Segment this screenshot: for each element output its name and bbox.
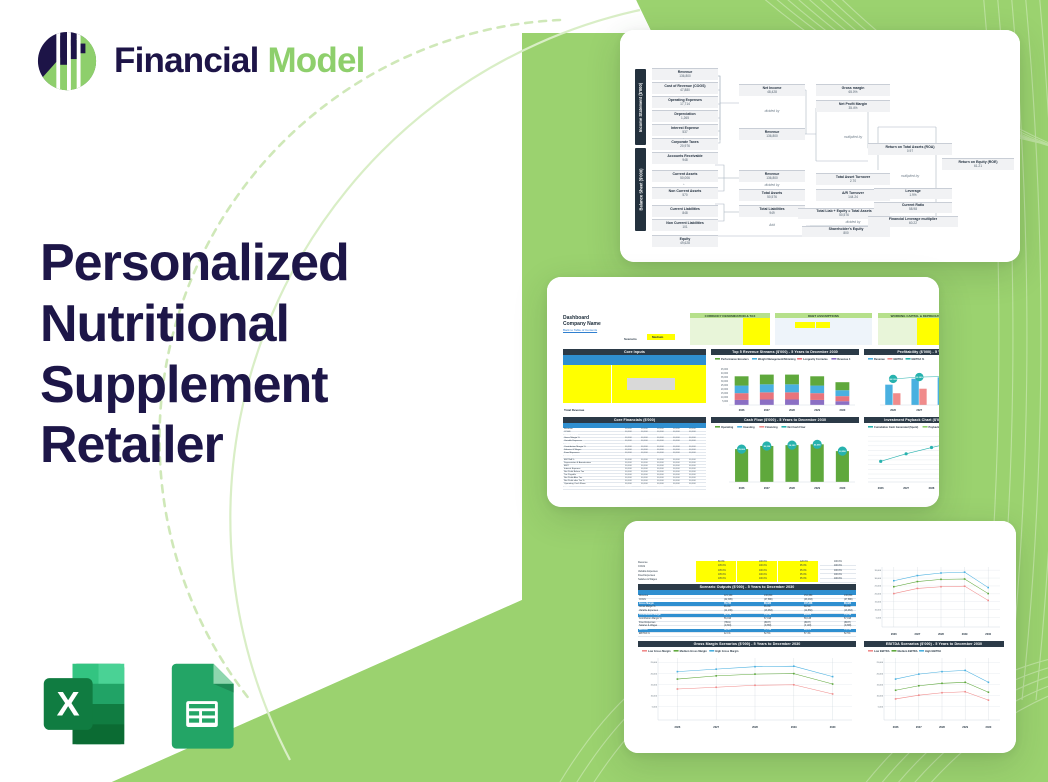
svg-text:5,000: 5,000 — [878, 707, 884, 709]
brand-name-part1: Financial — [114, 41, 259, 80]
scenario-value: Medium — [652, 335, 663, 339]
chart-revenue-streams-svg: Performance BoostersWeight Management/Sl… — [711, 356, 859, 413]
svg-text:2026: 2026 — [739, 408, 745, 412]
core-financials-cell: 00,000 — [657, 477, 664, 479]
dupont-box-right-1: Leverage 1.9% — [874, 188, 952, 199]
dupont-box-bs-5: Equity 49,628 — [652, 235, 718, 247]
core-financials-rowline — [563, 467, 706, 468]
dupont-box-final-roe: Return on Equity (ROE) 61.21 — [942, 158, 1014, 170]
svg-text:2027: 2027 — [916, 408, 922, 412]
svg-text:2026: 2026 — [891, 632, 897, 636]
svg-text:Performance Boosters: Performance Boosters — [721, 357, 749, 361]
svg-text:2030: 2030 — [986, 725, 992, 729]
core-financials-cell: 00,000 — [625, 443, 632, 445]
core-financials-cell: 00,000 — [689, 459, 696, 461]
svg-text:40,080: 40,080 — [814, 443, 821, 446]
scenario-outputs-cell: (11,860) — [804, 610, 812, 612]
svg-text:Financing: Financing — [765, 425, 778, 429]
core-financials-cell: 00,000 — [689, 452, 696, 454]
svg-text:2030: 2030 — [985, 632, 991, 636]
dupont-minus-0: - — [683, 80, 684, 84]
dupont-box-right-0: Return on Total Assets (ROA) 0.97 — [868, 143, 952, 155]
investment-payback-chart: Cumulative Cash Generated (Spent)Payback… — [864, 424, 939, 492]
svg-text:2027: 2027 — [764, 408, 770, 412]
scenario-outputs-cell: 57,198 — [844, 618, 851, 620]
core-financials-cell: 00,000 — [625, 437, 632, 439]
dashboard-subtitle: Company Name — [563, 321, 601, 327]
svg-text:2028: 2028 — [939, 725, 945, 729]
core-financials-cell: 00,000 — [625, 440, 632, 442]
svg-text:2030: 2030 — [840, 408, 846, 412]
svg-text:EBITDA: EBITDA — [893, 357, 903, 361]
core-financials-cell: 00,000 — [673, 468, 680, 470]
scenario-outputs-row-label: COGS — [639, 599, 646, 601]
panel-debt-cell-amount[interactable] — [795, 322, 815, 328]
core-financials-cell: 00,000 — [689, 471, 696, 473]
core-financials-cell: 00,000 — [673, 449, 680, 451]
core-financials-cell: 00,000 — [689, 465, 696, 467]
core-financials-cell: 00,000 — [673, 452, 680, 454]
core-financials-cell: 00,000 — [673, 486, 680, 488]
core-financials-cell: 00,000 — [641, 437, 648, 439]
scenario-outputs-row-label: EBITDA % — [639, 633, 650, 635]
core-financials-cell: 00,000 — [689, 474, 696, 476]
core-financials-cell: 00,000 — [657, 468, 664, 470]
dashboard-back-link[interactable]: Back to Table of Contents — [563, 328, 597, 332]
dupont-box-ratio-0: Gross margin 65.0% — [816, 84, 890, 96]
scenario-assumption-value: 95.0% — [800, 565, 807, 567]
scenario-outputs-rowline — [638, 598, 856, 599]
svg-text:X: X — [57, 686, 80, 724]
svg-text:30,000: 30,000 — [721, 381, 729, 383]
scenario-outputs-row-label: Revenue — [639, 595, 648, 597]
scenario-assumption-cell[interactable] — [778, 578, 818, 582]
scenario-assumption-value: 100.0% — [759, 565, 767, 567]
core-financials-cell: 00,000 — [641, 455, 648, 457]
dupont-box-bs-3: Current Liabilities 848 — [652, 205, 718, 217]
svg-text:25,000: 25,000 — [875, 586, 882, 588]
core-financials-cell: 00,000 — [657, 474, 664, 476]
svg-text:2029: 2029 — [814, 408, 820, 412]
core-financials-cell: 00,000 — [641, 449, 648, 451]
svg-text:Payback year: Payback year — [929, 425, 939, 429]
svg-text:5,000: 5,000 — [722, 401, 728, 403]
scenario-assumption-label: COGS — [638, 565, 645, 568]
scenario-outputs-cell: 90,870 — [804, 614, 811, 616]
scenario-outputs-cell: (3,868) — [764, 625, 771, 627]
core-financials-cell: 00,000 — [673, 480, 680, 482]
core-financials-cell: 00,000 — [625, 431, 632, 433]
scenario-active-rowline — [820, 582, 856, 583]
core-inputs-names-col[interactable] — [563, 365, 611, 403]
svg-text:58.13%: 58.13% — [889, 379, 896, 381]
dupont-minus-1: - — [683, 94, 684, 98]
scenario-outputs-cell: (3,898) — [844, 625, 851, 627]
panel-profitability-title: Profitability ($'000) - 5 Years to Decem… — [864, 349, 939, 355]
svg-text:Net Cash Flow: Net Cash Flow — [787, 425, 806, 429]
core-financials-cell: 00,000 — [657, 455, 664, 457]
svg-text:2027: 2027 — [903, 486, 909, 490]
core-financials-rowline — [563, 449, 706, 450]
scenario-active-value: 100.0% — [834, 578, 842, 580]
scenario-outputs-cell: 75,708 — [844, 629, 851, 631]
core-financials-cell: 00,000 — [625, 452, 632, 454]
scenario-outputs-cell: (47,880) — [844, 599, 853, 601]
core-financials-rowline — [563, 452, 706, 453]
panel-cash-flow-title: Cash Flow ($'000) - 5 Years to December … — [711, 417, 859, 423]
dupont-box-bs-4: Non Current Liabilities 101 — [652, 219, 718, 231]
svg-text:5,000: 5,000 — [652, 707, 658, 709]
core-financials-cell: 00,000 — [689, 440, 696, 442]
chart-ebitda-svg: Low EBITDAMedium EBITDAHigh EBITDA25,000… — [864, 648, 1004, 730]
scenario-outputs-cell: 88,920 — [844, 603, 851, 605]
scenario-outputs-cell: 57.4% — [804, 633, 811, 635]
core-financials-cell: 00,000 — [641, 474, 648, 476]
core-financials-cell: 00,000 — [641, 486, 648, 488]
financial-dashboard-card[interactable]: Dashboard Company Name Back to Table of … — [547, 277, 939, 507]
scenario-outputs-rowline — [638, 625, 856, 626]
core-financials-cell: 00,000 — [625, 468, 632, 470]
dupont-box-is-2: Operating Expenses 17,714 — [652, 96, 718, 108]
core-financials-cell: 00,000 — [625, 465, 632, 467]
core-financials-cell: 00,000 — [689, 434, 696, 436]
svg-text:2027: 2027 — [764, 486, 770, 490]
svg-text:2029: 2029 — [962, 725, 968, 729]
scenario-outputs-cell: 69.5% — [804, 606, 811, 608]
svg-text:35,000: 35,000 — [721, 377, 729, 379]
core-financials-cell: 00,000 — [625, 455, 632, 457]
scenario-outputs-row-label: Salaries & Wages — [639, 625, 657, 627]
scenario-active-value: 100.0% — [834, 570, 842, 572]
core-financials-rowline — [563, 440, 706, 441]
svg-text:2030: 2030 — [840, 486, 846, 490]
core-financials-cell: 00,000 — [689, 428, 696, 430]
core-financials-cell: 00,000 — [689, 455, 696, 457]
dupont-box-right-3: Financial Leverage multiplier 60.22 — [868, 216, 958, 227]
dupont-operator-0: divided by — [739, 109, 805, 113]
svg-text:2026: 2026 — [890, 408, 896, 412]
scenario-outputs-cell: 58,138 — [804, 618, 811, 620]
scenario-outputs-cell: 121,130 — [724, 595, 732, 597]
svg-text:62.29%: 62.29% — [916, 377, 923, 379]
svg-text:25,000: 25,000 — [877, 662, 884, 664]
core-financials-cell: 00,000 — [689, 477, 696, 479]
core-financials-cell: 00,000 — [657, 437, 664, 439]
svg-text:20,000: 20,000 — [651, 673, 658, 675]
core-financials-cell: 00,000 — [625, 428, 632, 430]
svg-text:2028: 2028 — [789, 486, 795, 490]
scenario-outputs-row-label: Contribution Margin % — [639, 618, 662, 620]
scenario-active-value: 100.0% — [834, 561, 842, 563]
core-financials-rowline — [563, 458, 706, 459]
core-financials-cell: 00,000 — [641, 440, 648, 442]
chart-gross-margin-svg: Low Gross MarginMedium Gross MarginHigh … — [638, 648, 856, 730]
scenario-outputs-cell: (47,880) — [764, 599, 773, 601]
svg-text:Low EBITDA: Low EBITDA — [874, 649, 890, 653]
core-financials-rowline — [563, 434, 706, 435]
scenario-outputs-cell: 65.0% — [844, 606, 851, 608]
core-financials-rowline — [563, 470, 706, 471]
core-financials-cell: 00,000 — [657, 431, 664, 433]
core-financials-cell: 00,000 — [641, 459, 648, 461]
page-title: Personalized Nutritional Supplement Reta… — [40, 233, 470, 476]
core-financials-cell: 00,000 — [625, 483, 632, 485]
svg-text:Longevity Formulas: Longevity Formulas — [803, 357, 828, 361]
poster-stage: Financial Model Personalized Nutritional… — [0, 0, 1048, 782]
core-financials-rowline — [563, 431, 706, 432]
svg-text:15,000: 15,000 — [721, 393, 729, 395]
scenario-active-column: 100.0%100.0%100.0%100.0%100.0% — [820, 561, 856, 583]
core-financials-cell: 00,000 — [689, 446, 696, 448]
core-financials-rowline — [563, 464, 706, 465]
core-financials-cell: 00,000 — [657, 452, 664, 454]
core-financials-cell: 00,000 — [641, 468, 648, 470]
core-financials-cell: 00,000 — [673, 455, 680, 457]
svg-text:30,000: 30,000 — [875, 578, 882, 580]
svg-text:35,000: 35,000 — [875, 570, 882, 572]
scenario-outputs-cell: 52,007 — [724, 629, 731, 631]
panel-gross-margin-title: Gross Margin Scenarios ($'000) - 5 Years… — [638, 641, 856, 647]
core-financials-cell: 00,000 — [657, 449, 664, 451]
scenario-outputs-cell: 56,196 — [724, 618, 731, 620]
svg-text:5,000: 5,000 — [876, 617, 882, 619]
svg-text:2028: 2028 — [929, 486, 935, 490]
chart-scenario-revenue-svg: 35,00030,00025,00020,00015,00010,0005,00… — [864, 563, 1004, 637]
panel-currency-values[interactable] — [743, 318, 770, 345]
core-financials-cell: 00,000 — [641, 452, 648, 454]
dupont-box-is-4: Interest Expense 537 — [652, 124, 718, 136]
scenario-assumption-label: Fixed Expenses — [638, 574, 655, 577]
scenario-assumption-value: 95.0% — [800, 570, 807, 572]
dupont-operator-5: multiplied by — [868, 174, 952, 178]
core-financials-cell: 00,000 — [673, 446, 680, 448]
ebitda-scenarios-chart: Low EBITDAMedium EBITDAHigh EBITDA25,000… — [864, 648, 1004, 730]
core-financials-rowline — [563, 489, 706, 490]
dupont-box-mid-4: Total Liabilities 949 — [739, 205, 805, 217]
brand-name: Financial Model — [114, 41, 365, 81]
dupont-box-is-1: Cost of Revenue (COGS) 47,880 — [652, 82, 718, 94]
svg-text:10,000: 10,000 — [875, 609, 882, 611]
core-financials-cell: 00,000 — [689, 437, 696, 439]
dupont-box-bs-1: Current Assets 50,006 — [652, 170, 718, 182]
core-financials-cell: 00,000 — [673, 465, 680, 467]
scenario-assumptions-table[interactable]: Revenue80.0%100.0%120.0%COGS105.0%100.0%… — [638, 561, 818, 583]
svg-text:20,000: 20,000 — [875, 594, 882, 596]
svg-text:40,000: 40,000 — [721, 373, 729, 375]
svg-text:Cumulative Cash Generated (Spe: Cumulative Cash Generated (Spent) — [874, 425, 918, 429]
scenario-assumption-value: 105.0% — [718, 565, 726, 567]
scenario-outputs-rowline — [638, 617, 856, 618]
svg-text:2029: 2029 — [962, 632, 968, 636]
scenario-assumption-value: 100.0% — [759, 578, 767, 580]
core-financials-cell: 00,000 — [657, 462, 664, 464]
page-title-line-4: Retailer — [40, 415, 470, 476]
svg-text:45,000: 45,000 — [721, 369, 729, 371]
core-financials-cell: 00,000 — [673, 483, 680, 485]
core-financials-rowline — [563, 486, 706, 487]
scenario-revenue-chart: 35,00030,00025,00020,00015,00010,0005,00… — [864, 563, 1004, 637]
svg-text:Revenue 4: Revenue 4 — [837, 357, 851, 361]
core-financials-cell: 00,000 — [657, 440, 664, 442]
scenario-outputs-cell: (42,395) — [724, 599, 733, 601]
panel-debt-cell-launch[interactable] — [816, 322, 830, 328]
svg-text:2028: 2028 — [938, 632, 944, 636]
scenario-assumption-value: 105.0% — [718, 574, 726, 576]
core-financials-cell: 00,000 — [641, 477, 648, 479]
core-financials-cell: 00,000 — [641, 462, 648, 464]
svg-text:2026: 2026 — [878, 486, 884, 490]
scenario-outputs-cell: 107,348 — [804, 603, 812, 605]
svg-text:2029: 2029 — [814, 486, 820, 490]
core-financials-cell: 00,000 — [625, 477, 632, 479]
scenario-assumption-value: 105.0% — [718, 570, 726, 572]
svg-text:2027: 2027 — [713, 725, 719, 729]
scenario-outputs-cell: 136,800 — [844, 595, 852, 597]
core-financials-cell: 00,000 — [673, 434, 680, 436]
core-financials-cell: 00,000 — [673, 471, 680, 473]
scenario-outputs-rowline — [638, 606, 856, 607]
core-financials-cell: 00,000 — [673, 443, 680, 445]
core-financials-cell: 00,000 — [689, 462, 696, 464]
scenario-outputs-cell: 42.1% — [724, 633, 731, 635]
scenario-analysis-card[interactable]: Revenue80.0%100.0%120.0%COGS105.0%100.0%… — [624, 521, 1016, 753]
core-financials-cell: 00,000 — [657, 434, 664, 436]
core-financials-cell: 00,000 — [657, 459, 664, 461]
core-financials-cell: 00,000 — [657, 483, 664, 485]
scenario-outputs-table: Revenue121,130136,800154,380136,800COGS(… — [638, 595, 856, 638]
core-financials-cell: 00,000 — [641, 480, 648, 482]
core-financials-cell: 00,000 — [641, 428, 648, 430]
dupont-box-is-5: Corporate Taxes 20,976 — [652, 138, 718, 150]
core-financials-cell: 00,000 — [625, 480, 632, 482]
brand-logo[interactable]: Financial Model — [36, 30, 365, 92]
svg-text:Weight Management/Slimming: Weight Management/Slimming — [758, 357, 796, 361]
circular-chart-logo-icon — [36, 30, 98, 92]
core-financials-cell: 00,000 — [641, 446, 648, 448]
scenario-outputs-cell: 75,758 — [764, 614, 771, 616]
svg-text:32,850: 32,850 — [839, 451, 846, 453]
core-financials-cell: 00,000 — [657, 471, 664, 473]
core-financials-cell: 00,000 — [673, 431, 680, 433]
core-financials-cell: 00,000 — [641, 431, 648, 433]
scenario-outputs-cell: (43,033) — [804, 599, 813, 601]
core-inputs-total-label: Total Revenue — [564, 408, 584, 412]
core-financials-table: Revenue00,00000,00000,00000,00000,000COG… — [563, 428, 706, 492]
scenario-assumption-value: 120.0% — [800, 561, 808, 563]
panel-wc-values[interactable] — [917, 318, 939, 345]
svg-text:2029: 2029 — [791, 725, 797, 729]
core-financials-cell: 00,000 — [657, 446, 664, 448]
svg-text:Operating: Operating — [721, 425, 734, 429]
core-financials-rowline — [563, 437, 706, 438]
core-financials-cell: 00,000 — [625, 459, 632, 461]
dupont-minus-3: - — [683, 122, 684, 126]
scenario-outputs-cell: 75,758 — [844, 614, 851, 616]
core-financials-cell: 00,000 — [641, 483, 648, 485]
scenario-outputs-cell: (8037) — [844, 622, 851, 624]
core-financials-cell: 00,000 — [657, 480, 664, 482]
page-title-line-2: Nutritional — [40, 294, 470, 355]
microsoft-excel-icon[interactable]: X — [38, 658, 130, 750]
google-sheets-icon[interactable] — [156, 658, 248, 750]
dupont-box-right-2: Current Ratio 58.98 — [874, 202, 952, 213]
scenario-assumption-value: 95.0% — [800, 578, 807, 580]
dupont-operator-4: Add — [739, 223, 805, 227]
svg-text:High EBITDA: High EBITDA — [925, 649, 941, 653]
core-financials-cell: 00,000 — [625, 446, 632, 448]
scenario-outputs-cell: (13,963) — [764, 610, 773, 612]
panel-ebitda-title: EBITDA Scenarios ($'000) - 5 Years to De… — [864, 641, 1004, 647]
dupont-box-mid-3: Total Assets 50,576 — [739, 189, 805, 201]
scenario-outputs-cell: 77,708 — [764, 629, 771, 631]
svg-text:15,000: 15,000 — [651, 684, 658, 686]
svg-text:2028: 2028 — [752, 725, 758, 729]
core-financials-rowline — [563, 473, 706, 474]
scenario-outputs-cell: 65.0% — [724, 606, 731, 608]
scenario-outputs-row-label: Contribution Margin — [639, 614, 661, 616]
cash-flow-chart: OperatingInvestingFinancingNet Cash Flow… — [711, 424, 859, 492]
panel-payback-title: Investment Payback Chart ($'000) - 5 Yea… — [864, 417, 939, 423]
core-inputs-sub-headers — [563, 360, 706, 365]
chart-payback-svg: Cumulative Cash Generated (Spent)Payback… — [864, 424, 939, 492]
scenario-assumption-value: 100.0% — [759, 574, 767, 576]
core-financials-cell: 00,000 — [673, 428, 680, 430]
dupont-box-bs-0: Accounts Receivable 948 — [652, 152, 718, 164]
scenario-assumption-label: Salaries & Wages — [638, 578, 657, 581]
scenario-outputs-cell: 67,779 — [724, 614, 731, 616]
scenario-active-value: 100.0% — [834, 574, 842, 576]
core-financials-cell: 00,000 — [657, 465, 664, 467]
svg-text:10,000: 10,000 — [651, 695, 658, 697]
file-format-icons: X — [38, 658, 248, 750]
dupont-box-ratio-1: Net Profit Margin 35.4% — [816, 100, 890, 112]
core-financials-cell: 00,000 — [641, 443, 648, 445]
scenario-outputs-rowline — [638, 621, 856, 622]
svg-text:Medium EBITDA: Medium EBITDA — [898, 649, 918, 653]
svg-text:2026: 2026 — [675, 725, 681, 729]
core-financials-cell: 00,000 — [625, 449, 632, 451]
core-financials-cell: 00,000 — [625, 474, 632, 476]
svg-text:25,000: 25,000 — [651, 662, 658, 664]
core-financials-cell: 00,000 — [689, 468, 696, 470]
page-title-line-1: Personalized — [40, 233, 470, 294]
svg-text:38,330: 38,330 — [763, 446, 770, 448]
dupont-plus-0: + — [683, 182, 685, 186]
chart-profitability-svg: RevenueEBITDAEBITDA %58.13%62.29%63.50%6… — [864, 356, 939, 413]
dupont-box-ratio-5: Shareholder's Equity 800 — [802, 226, 890, 237]
scenario-outputs-cell: 52.5% — [764, 633, 771, 635]
scenario-assumption-value: 95.0% — [800, 574, 807, 576]
svg-text:2026: 2026 — [893, 725, 899, 729]
core-financials-cell: 00,000 — [625, 471, 632, 473]
core-financials-cell: 00,000 — [673, 474, 680, 476]
scenario-outputs-cell: 80,670 — [804, 629, 811, 631]
scenario-assumption-cell[interactable] — [737, 578, 777, 582]
svg-text:2027: 2027 — [915, 632, 921, 636]
scenario-outputs-cell: (8037) — [764, 622, 771, 624]
svg-text:Low Gross Margin: Low Gross Margin — [648, 649, 671, 653]
dupont-box-is-0: Revenue 136,800 — [652, 68, 718, 80]
scenario-outputs-cell: (4,849) — [724, 625, 731, 627]
chart-cashflow-svg: OperatingInvestingFinancingNet Cash Flow… — [711, 424, 859, 492]
core-inputs-col-headers — [563, 355, 706, 360]
svg-text:Medium Gross Margin: Medium Gross Margin — [680, 649, 708, 653]
scenario-assumption-label: Revenue — [638, 561, 648, 564]
core-financials-rowline — [563, 476, 706, 477]
dupont-analysis-card[interactable]: Income Statement ($'000) Balance Sheet (… — [620, 30, 1020, 262]
scenario-assumption-cell[interactable] — [696, 578, 736, 582]
svg-text:35,000: 35,000 — [738, 449, 745, 451]
